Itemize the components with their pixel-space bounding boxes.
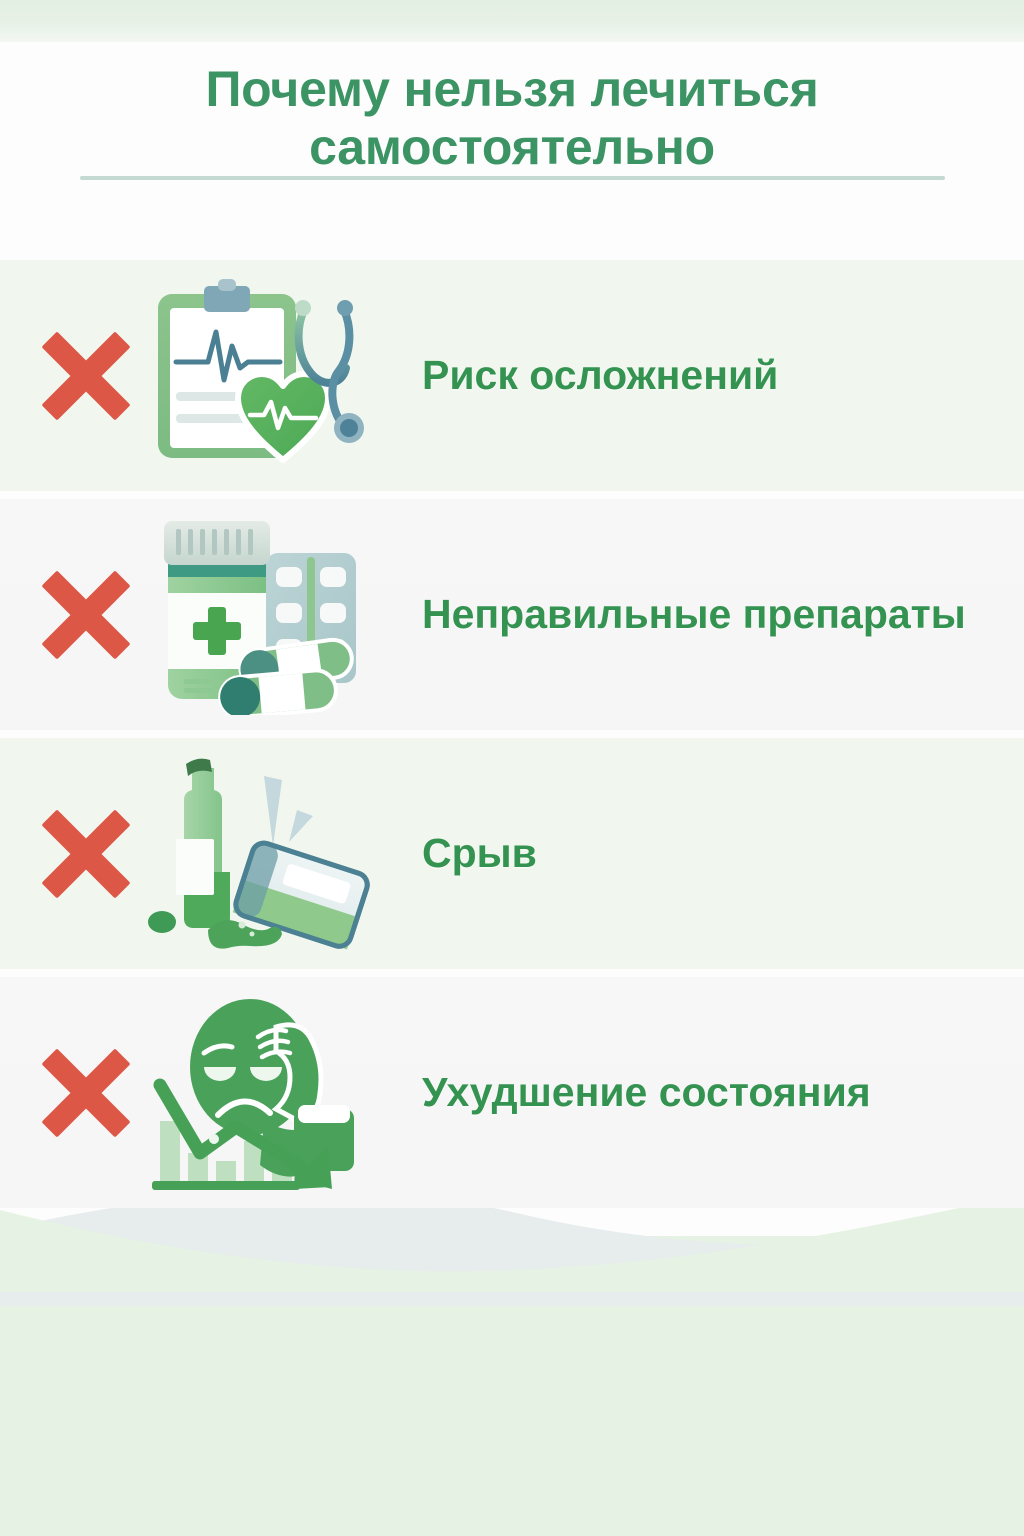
red-x-icon [40,569,132,661]
list-item: Риск осложнений [0,260,1024,491]
top-accent-band [0,0,1024,42]
list-item-label: Риск осложнений [422,350,778,400]
list-item-label: Срыв [422,828,537,878]
list-item: Ухудшение состояния [0,977,1024,1208]
title-line-1: Почему нельзя лечиться [205,61,818,117]
title-line-2: самостоятельно [70,118,954,176]
poster-header: Почему нельзя лечиться самостоятельно [0,60,1024,176]
worried-person-declining-chart-icon [146,993,386,1193]
list-item: Срыв [0,738,1024,969]
red-x-icon [40,808,132,900]
pill-bottle-blister-capsules-icon [146,515,386,715]
list-item: Неправильные препараты [0,499,1024,730]
list-item-label: Ухудшение состояния [422,1067,871,1117]
bottle-spilled-glass-icon [146,754,386,954]
list-item-label: Неправильные препараты [422,589,966,639]
red-x-icon [40,330,132,422]
clipboard-ecg-heart-stethoscope-icon [146,276,386,476]
title-divider [80,176,945,180]
reasons-list: Риск осложнений [0,260,1024,1216]
page-title: Почему нельзя лечиться самостоятельно [0,60,1024,176]
red-x-icon [40,1047,132,1139]
infographic-poster: Почему нельзя лечиться самостоятельно [0,0,1024,1536]
